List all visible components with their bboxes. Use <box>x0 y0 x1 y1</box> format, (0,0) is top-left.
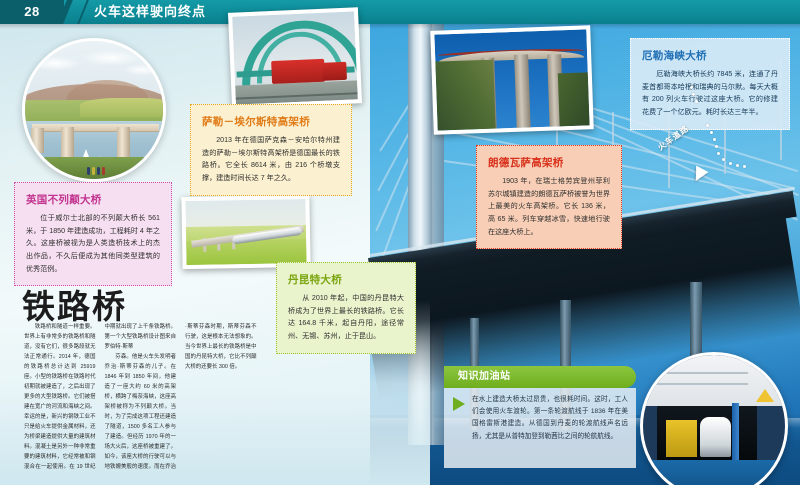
callout-dankun: 丹昆特大桥 从 2010 年起，中国的丹昆特大桥成为了世界上最长的铁路桥。它长达… <box>276 262 416 354</box>
knowledge-station: 知识加油站 在水上建造大桥太过昂贵，也很耗时间。这时，工人们会使用火车渡轮。第一… <box>444 366 644 474</box>
article-title: 铁路桥 <box>22 280 127 328</box>
callout-body: 位于威尔士北部的不列颠大桥长 561 米，于 1850 年建造成功，工程耗时 4… <box>26 212 160 275</box>
callout-title: 萨勒－埃尔斯特高架桥 <box>202 114 340 129</box>
train-ferry-photo <box>640 352 788 485</box>
callout-body: 从 2010 年起，中国的丹昆特大桥成为了世界上最长的铁路桥。它长达 164.8… <box>288 292 404 343</box>
knowledge-station-body-panel: 在水上建造大桥太过昂贵，也很耗时间。这时，工人们会使用火车渡轮。第一条轮渡航线于… <box>444 388 636 468</box>
knowledge-station-header: 知识加油站 <box>444 366 636 388</box>
callout-title: 厄勒海峡大桥 <box>642 48 778 63</box>
callout-body: 厄勒海峡大桥长约 7845 米，连通了丹麦首都哥本哈根和瑞典的马尔默。每天大概有… <box>642 68 778 119</box>
callout-body: 1903 年，在瑞士格劳宾登州菲利苏尔城镇建造的朗德瓦萨桥被誉为世界上最美的火车… <box>488 175 610 238</box>
landwasser-viaduct-photo <box>430 25 594 135</box>
play-triangle-icon <box>453 397 465 411</box>
magazine-page: 28 火车这样驶向终点 <box>0 0 800 485</box>
page-number-block: 28 <box>0 0 64 24</box>
britannia-bridge-illustration <box>22 38 166 182</box>
knowledge-station-title: 知识加油站 <box>444 366 636 388</box>
callout-landwasser: 朗德瓦萨高架桥 1903 年，在瑞士格劳宾登州菲利苏尔城镇建造的朗德瓦萨桥被誉为… <box>476 145 622 249</box>
callout-title: 朗德瓦萨高架桥 <box>488 155 610 170</box>
china-high-speed-rail-viaduct-photo <box>181 195 310 269</box>
article-body: 铁路桥和隧道一样重要。世界上有非常多的铁路桥和隧道，没有它们，很多路段就无法正常… <box>24 322 176 472</box>
page-header-band: 28 火车这样驶向终点 <box>0 0 800 24</box>
knowledge-station-text: 在水上建造大桥太过昂贵，也很耗时间。这时，工人们会使用火车渡轮。第一条轮渡航线于… <box>472 394 628 443</box>
page-number: 28 <box>0 0 64 24</box>
green-arch-bridge-train-photo <box>228 7 362 109</box>
callout-body: 2013 年在德国萨克森－安哈尔特州建造的萨勒－埃尔斯特高架桥是德国最长的铁路桥… <box>202 134 340 185</box>
callout-oresund: 厄勒海峡大桥 厄勒海峡大桥长约 7845 米，连通了丹麦首都哥本哈根和瑞典的马尔… <box>630 38 790 130</box>
callout-sale-elster: 萨勒－埃尔斯特高架桥 2013 年在德国萨克森－安哈尔特州建造的萨勒－埃尔斯特高… <box>190 104 352 196</box>
callout-britannia: 英国不列颠大桥 位于威尔士北部的不列颠大桥长 561 米，于 1850 年建造成… <box>14 182 172 286</box>
callout-title: 丹昆特大桥 <box>288 272 404 287</box>
callout-title: 英国不列颠大桥 <box>26 192 160 207</box>
header-title: 火车这样驶向终点 <box>94 0 206 24</box>
header-drop-shadow <box>0 24 800 29</box>
